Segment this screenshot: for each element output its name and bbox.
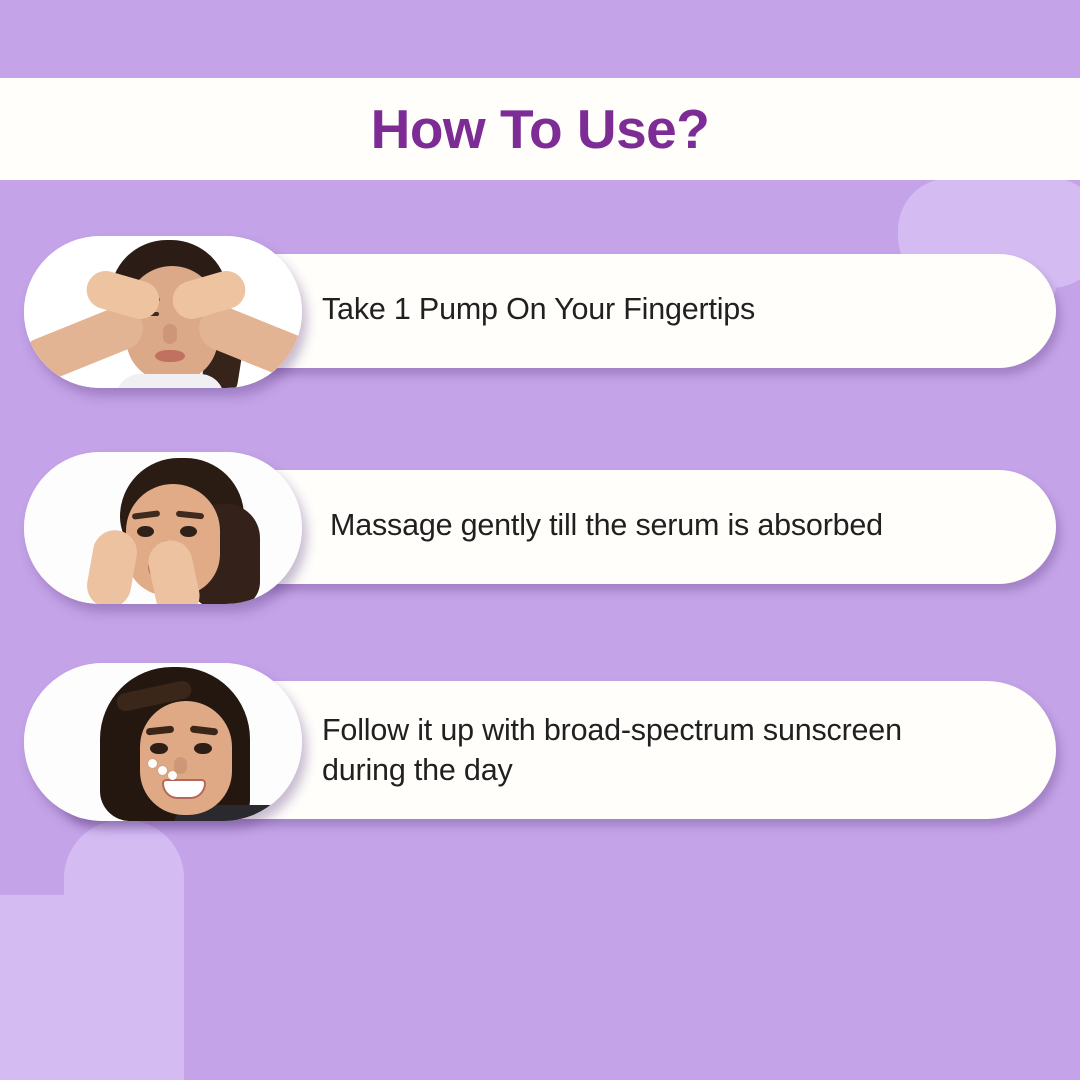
- woman-applying-serum-on-forehead-image: [24, 236, 302, 388]
- woman-massaging-cheeks-smiling-image: [24, 452, 302, 604]
- steps-list: Take 1 Pump On Your Fingertips: [0, 0, 1080, 1080]
- how-to-use-infographic: How To Use? Take 1 Pump On Your Fingerti…: [0, 0, 1080, 1080]
- woman-with-cream-dots-under-eye-image: [24, 663, 302, 821]
- step-label: Take 1 Pump On Your Fingertips: [322, 289, 1012, 329]
- step-label: Follow it up with broad-spectrum sunscre…: [322, 710, 1022, 791]
- step-thumbnail: [24, 663, 302, 821]
- step-thumbnail: [24, 236, 302, 388]
- step-thumbnail: [24, 452, 302, 604]
- step-label: Massage gently till the serum is absorbe…: [330, 505, 1020, 545]
